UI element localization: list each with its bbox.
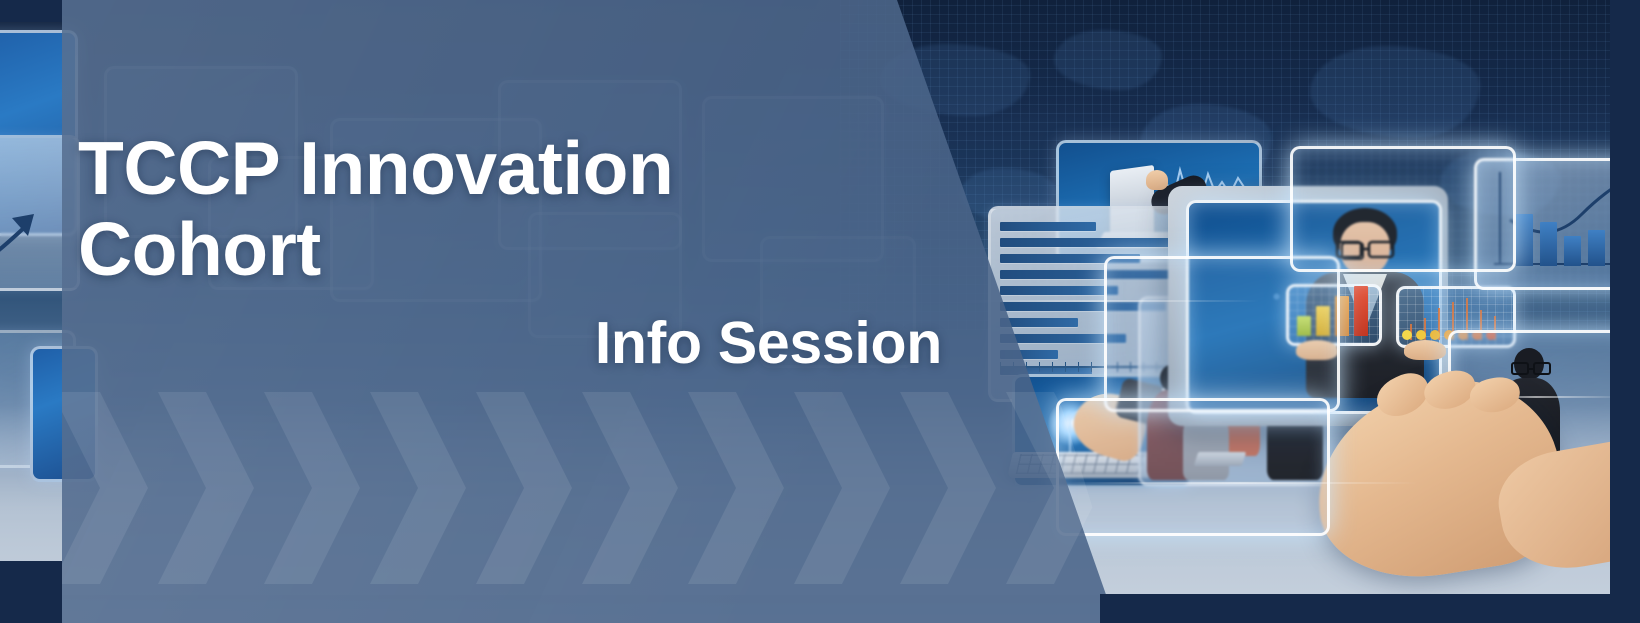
headline-block: TCCP Innovation Cohort Info Session — [0, 128, 952, 376]
collage-frame-overlap-b — [1056, 398, 1330, 536]
presenter-right-palm — [1404, 340, 1446, 360]
small-presenter-glasses-icon — [1512, 362, 1552, 376]
pointing-palm — [1146, 170, 1168, 190]
right-navy-band — [1610, 0, 1640, 623]
collage-frame-overlap-a — [1104, 256, 1340, 412]
light-streak-d — [1060, 482, 1420, 484]
light-streak-c — [960, 300, 1260, 302]
page-title: TCCP Innovation Cohort — [0, 128, 952, 290]
collage-frame-overlap-c — [1290, 146, 1516, 272]
banner: TCCP Innovation Cohort Info Session — [0, 0, 1640, 623]
left-bottom-navy-block — [0, 561, 62, 623]
page-subtitle: Info Session — [0, 312, 952, 376]
left-top-navy-block — [0, 0, 62, 22]
bottom-navy-band — [1100, 594, 1640, 623]
